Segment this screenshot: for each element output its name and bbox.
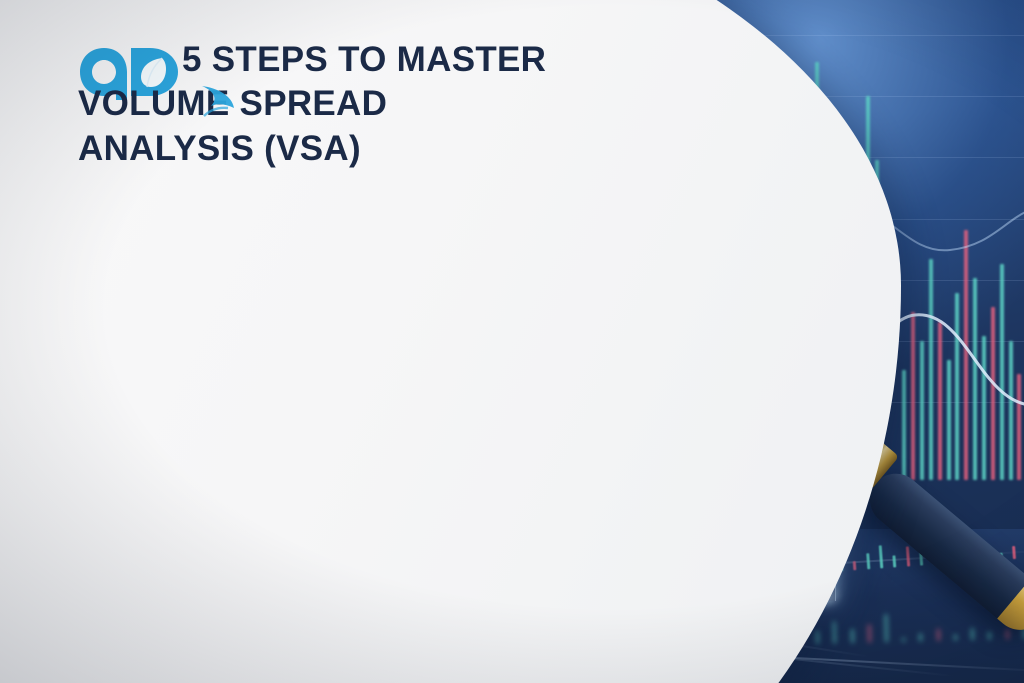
title-line-3: ANALYSIS (VSA) [78,127,598,171]
title-line-1: 5 STEPS TO MASTER [182,38,598,82]
headline-block: 5 STEPS TO MASTER VOLUME SPREAD ANALYSIS… [78,38,598,171]
page-title: 5 STEPS TO MASTER VOLUME SPREAD ANALYSIS… [78,38,598,171]
title-line-2: VOLUME SPREAD [78,82,598,126]
poster-canvas: 5 STEPS TO MASTER VOLUME SPREAD ANALYSIS… [0,0,1024,683]
